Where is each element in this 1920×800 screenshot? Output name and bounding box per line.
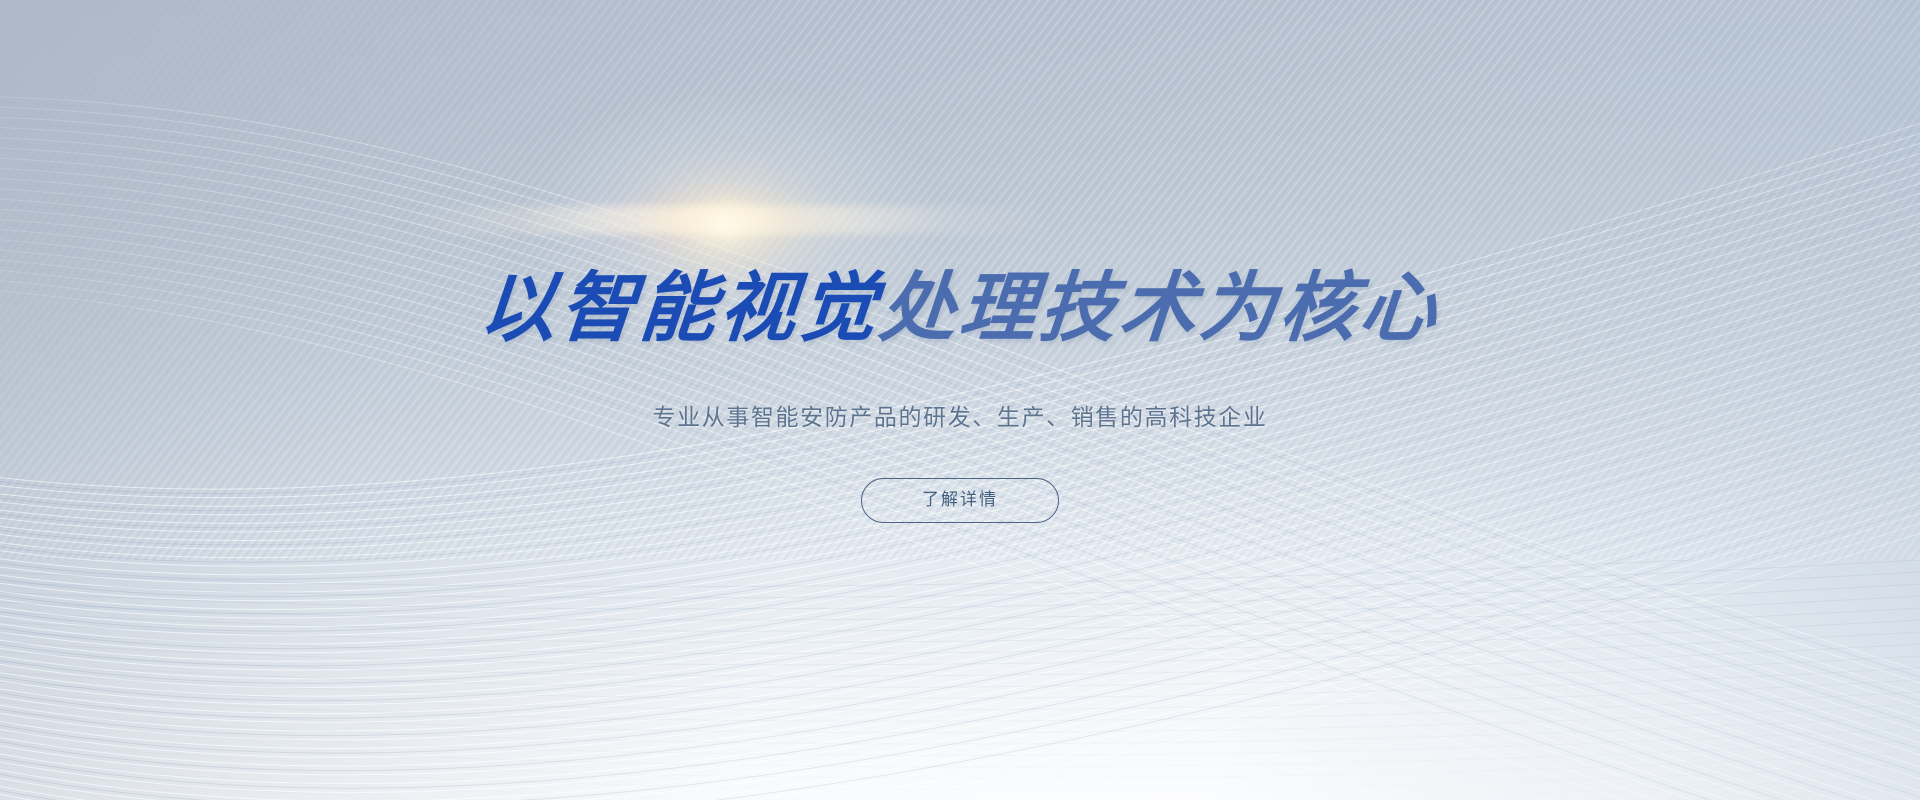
- learn-more-button[interactable]: 了解详情: [861, 478, 1059, 523]
- headline-segment-strong: 以智能视觉: [476, 263, 884, 352]
- hero-subtitle: 专业从事智能安防产品的研发、生产、销售的高科技企业: [653, 401, 1268, 435]
- hero-banner: 以智能视觉处理技术为核心 专业从事智能安防产品的研发、生产、销售的高科技企业 了…: [0, 0, 1920, 800]
- headline-segment-soft: 处理技术为核心: [876, 263, 1444, 352]
- hero-content: 以智能视觉处理技术为核心 专业从事智能安防产品的研发、生产、销售的高科技企业 了…: [0, 0, 1920, 800]
- hero-headline: 以智能视觉处理技术为核心: [476, 262, 1444, 354]
